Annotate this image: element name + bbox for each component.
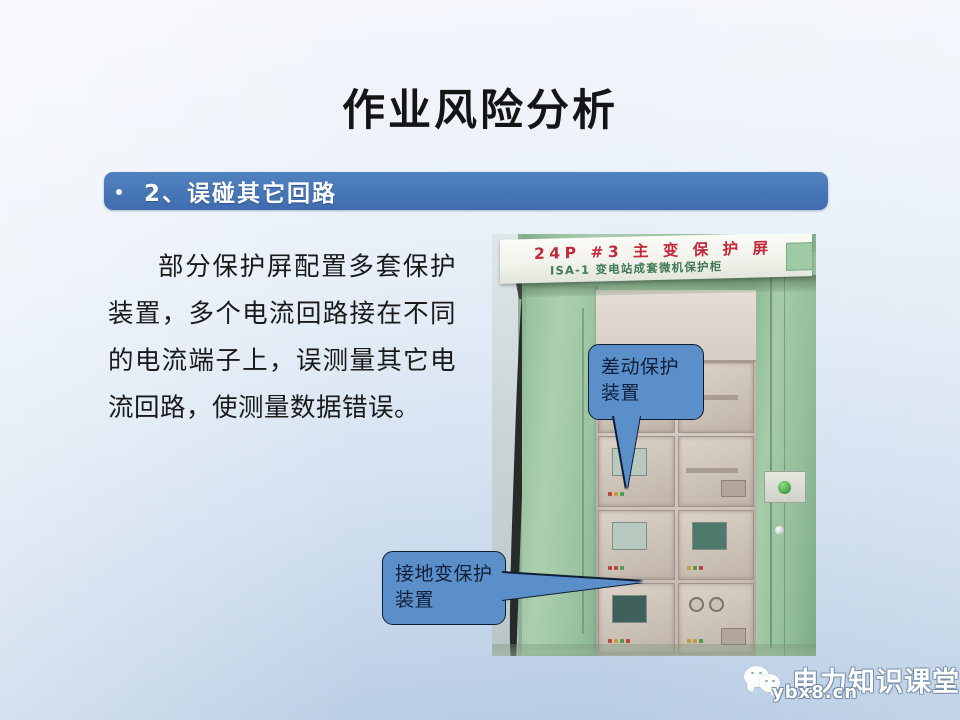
relay-dial-row: [689, 597, 724, 612]
led-indicator: [620, 492, 624, 496]
section-banner-label: 2、误碰其它回路: [144, 174, 337, 208]
watermark: 电力知识课堂 ybx8.cn: [744, 660, 960, 699]
led-indicator: [687, 639, 691, 643]
body-paragraph: 部分保护屏配置多套保护装置，多个电流回路接在不同的电流端子上，误测量其它电流回路…: [108, 244, 456, 432]
door-knob: [775, 526, 784, 535]
led-indicator: [693, 566, 697, 570]
relay-panel: [678, 510, 755, 581]
led-indicator: [614, 566, 618, 570]
relay-led-row: [687, 566, 703, 570]
wechat-eye: [772, 680, 775, 683]
watermark-channel-name: 电力知识课堂: [792, 660, 960, 699]
wechat-bubble-small: [759, 674, 780, 692]
slide-root: 作业风险分析 2、误碰其它回路 部分保护屏配置多套保护装置，多个电流回路接在不同…: [0, 0, 960, 720]
wechat-icon: [744, 664, 784, 696]
relay-panel: [598, 510, 675, 581]
rotary-dial: [689, 597, 704, 612]
cabinet-indicator-lamp: [764, 471, 806, 503]
page-title: 作业风险分析: [0, 88, 960, 135]
section-banner: 2、误碰其它回路: [104, 172, 828, 210]
bullet-icon: [116, 189, 122, 195]
callout-grounding-tail: [502, 573, 644, 600]
cabinet-signboard: 24P #3 主 变 保 护 屏 ISA-1 变电站成套微机保护柜: [500, 234, 812, 284]
wechat-eye: [765, 680, 768, 683]
relay-keypad: [721, 480, 745, 497]
led-indicator: [608, 566, 612, 570]
floor-strip: [492, 644, 816, 656]
signboard-accessory: [786, 242, 812, 271]
led-indicator: [626, 639, 630, 643]
led-indicator: [687, 566, 691, 570]
signboard-line-secondary: ISA-1 变电站成套微机保护柜: [550, 258, 722, 278]
wechat-eye: [751, 672, 754, 675]
rotary-dial: [709, 597, 724, 612]
led-indicator: [608, 492, 612, 496]
relay-led-row: [608, 639, 630, 643]
led-indicator: [620, 639, 624, 643]
relay-keypad: [721, 628, 745, 645]
led-indicator: [608, 639, 612, 643]
callout-differential-protection: 差动保护装置: [588, 344, 704, 420]
led-indicator: [614, 639, 618, 643]
led-indicator: [699, 566, 703, 570]
relay-led-row: [687, 639, 703, 643]
panel-strip: [686, 468, 738, 473]
relay-panel: [678, 436, 755, 507]
led-indicator: [614, 492, 618, 496]
led-indicator: [693, 639, 697, 643]
cabinet-stile-left: [526, 286, 598, 656]
callout-grounding-transformer-protection: 接地变保护装置: [382, 551, 506, 625]
cabinet-stile-right: [754, 252, 816, 656]
callout-differential-tail: [614, 416, 640, 490]
relay-led-row: [608, 566, 624, 570]
relay-display: [692, 522, 727, 550]
wechat-eye: [759, 672, 762, 675]
relay-led-row: [608, 492, 624, 496]
watermark-url: ybx8.cn: [772, 682, 858, 703]
green-lamp-icon: [778, 481, 791, 494]
led-indicator: [699, 639, 703, 643]
led-indicator: [620, 566, 624, 570]
relay-display: [612, 522, 647, 550]
wechat-bubble-large: [744, 666, 769, 687]
